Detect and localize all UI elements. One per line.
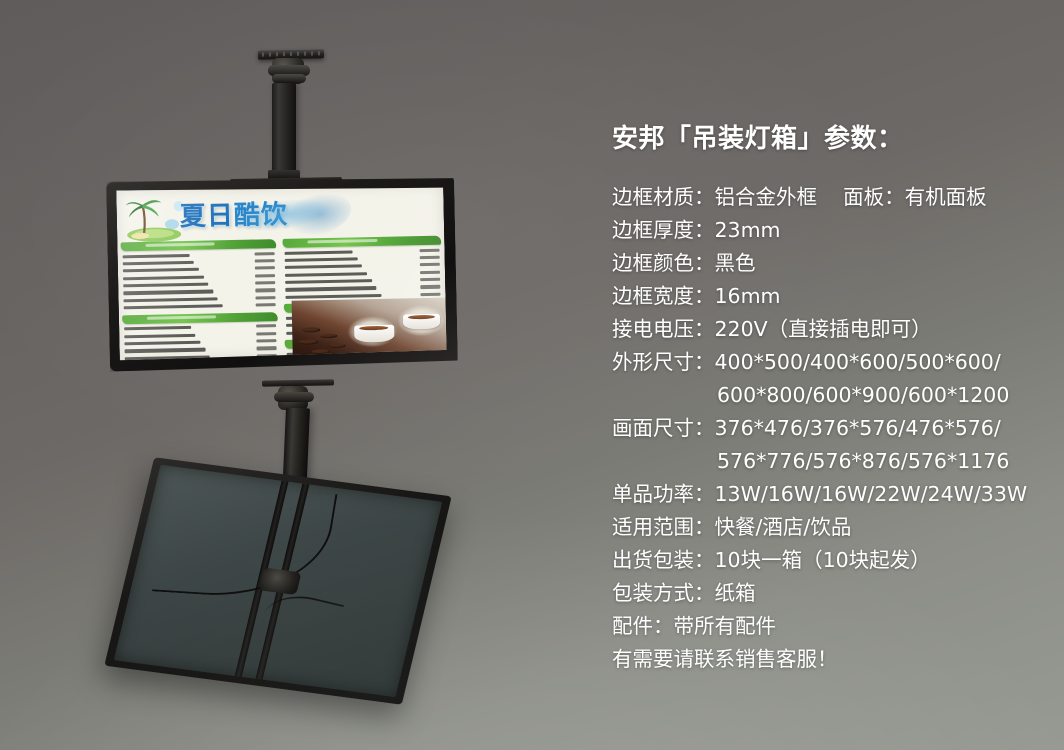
menu-item-price — [255, 289, 275, 293]
menu-section — [122, 312, 279, 361]
menu-item-name — [285, 257, 358, 262]
menu-artwork: 夏日酷饮 — [116, 184, 446, 361]
mid-pivot-knob-icon — [274, 392, 314, 402]
menu-item-price — [255, 259, 275, 263]
menu-item-price — [254, 252, 274, 256]
menu-item-price — [255, 296, 275, 300]
lightbox-lower-frame — [104, 457, 451, 705]
menu-item-name — [123, 261, 194, 266]
menu-item-price — [255, 281, 275, 285]
menu-item-name — [123, 268, 199, 273]
menu-section-header-label — [145, 242, 214, 246]
lightbox-rear-panel — [114, 465, 442, 697]
menu-item-rows — [122, 323, 279, 361]
menu-section — [282, 236, 442, 301]
rear-mount-bracket-icon — [259, 567, 302, 594]
menu-section-header-label — [308, 239, 378, 243]
menu-item-price — [420, 263, 440, 267]
mount-screw-holes-icon — [262, 51, 320, 56]
menu-item-name — [124, 341, 200, 346]
spec-line: 包装方式：纸箱 — [612, 577, 1052, 610]
menu-item-rows — [282, 247, 442, 301]
spec-line: 有需要请联系销售客服！ — [612, 643, 1052, 676]
menu-item-price — [255, 274, 275, 278]
menu-item-name — [285, 294, 381, 299]
menu-item-name — [123, 275, 204, 280]
spec-line: 出货包装：10块一箱（10块起发） — [612, 544, 1052, 577]
menu-item-price — [256, 332, 276, 336]
menu-item-name — [285, 286, 377, 291]
menu-item-name — [125, 348, 206, 353]
menu-item-name — [285, 272, 367, 277]
menu-item-price — [256, 324, 276, 328]
menu-item-price — [420, 270, 440, 274]
menu-item-price — [256, 347, 276, 351]
menu-item-name — [123, 283, 208, 288]
spec-line: 边框材质：铝合金外框 面板：有机面板 — [612, 181, 1052, 214]
coffee-photo-inset — [292, 297, 447, 356]
spec-line: 边框颜色：黑色 — [612, 247, 1052, 280]
lightbox-menu-panel: 夏日酷饮 — [116, 184, 446, 361]
menu-item-price — [420, 278, 440, 282]
menu-item-price — [420, 285, 440, 289]
spec-line: 边框厚度：23mm — [612, 214, 1052, 247]
menu-item-name — [285, 279, 372, 284]
specs-line-list: 边框材质：铝合金外框 面板：有机面板边框厚度：23mm边框颜色：黑色边框宽度：1… — [612, 181, 1052, 676]
spec-line: 576*776/576*876/576*1176 — [612, 445, 1052, 478]
spec-line: 边框宽度：16mm — [612, 280, 1052, 313]
spec-line: 单品功率：13W/16W/16W/22W/24W/33W — [612, 478, 1052, 511]
menu-section-header-label — [147, 315, 216, 319]
menu-item-price — [420, 256, 440, 260]
menu-item-price — [420, 248, 440, 252]
menu-item-name — [123, 290, 213, 295]
spec-line: 外形尺寸：400*500/400*600/500*600/ — [612, 346, 1052, 379]
menu-item-name — [124, 304, 223, 309]
menu-item-name — [124, 334, 195, 339]
menu-item-price — [420, 292, 440, 296]
lightbox-lower-rear — [128, 470, 428, 692]
menu-item-name — [123, 253, 190, 257]
spec-line: 适用范围：快餐/酒店/饮品 — [612, 511, 1052, 544]
menu-item-rows — [121, 250, 278, 311]
menu-item-name — [124, 326, 191, 330]
specifications-panel: 安邦「吊装灯箱」参数： 边框材质：铝合金外框 面板：有机面板边框厚度：23mm边… — [612, 118, 1052, 676]
menu-column-left — [117, 239, 281, 360]
menu-item-name — [284, 250, 352, 255]
specs-title: 安邦「吊装灯箱」参数： — [612, 118, 1052, 155]
menu-item-name — [124, 297, 218, 302]
menu-section-header — [121, 312, 278, 324]
menu-item-price — [256, 303, 276, 307]
spec-line: 配件：带所有配件 — [612, 610, 1052, 643]
product-photo: 夏日酷饮 — [0, 0, 600, 750]
spec-line: 接电电压：220V（直接插电即可） — [612, 313, 1052, 346]
pivot-knob-lower-icon — [272, 74, 306, 83]
menu-item-name — [285, 265, 363, 270]
power-cable — [152, 484, 337, 603]
menu-section — [120, 239, 277, 311]
lightbox-upper: 夏日酷饮 — [106, 174, 458, 371]
menu-section-header — [120, 239, 277, 251]
screenshot-canvas: 夏日酷饮 — [0, 0, 1064, 750]
spec-line: 600*800/600*900/600*1200 — [612, 379, 1052, 412]
menu-item-price — [256, 339, 276, 343]
menu-item-price — [255, 266, 275, 270]
spec-line: 画面尺寸：376*476/376*576/476*576/ — [612, 412, 1052, 445]
